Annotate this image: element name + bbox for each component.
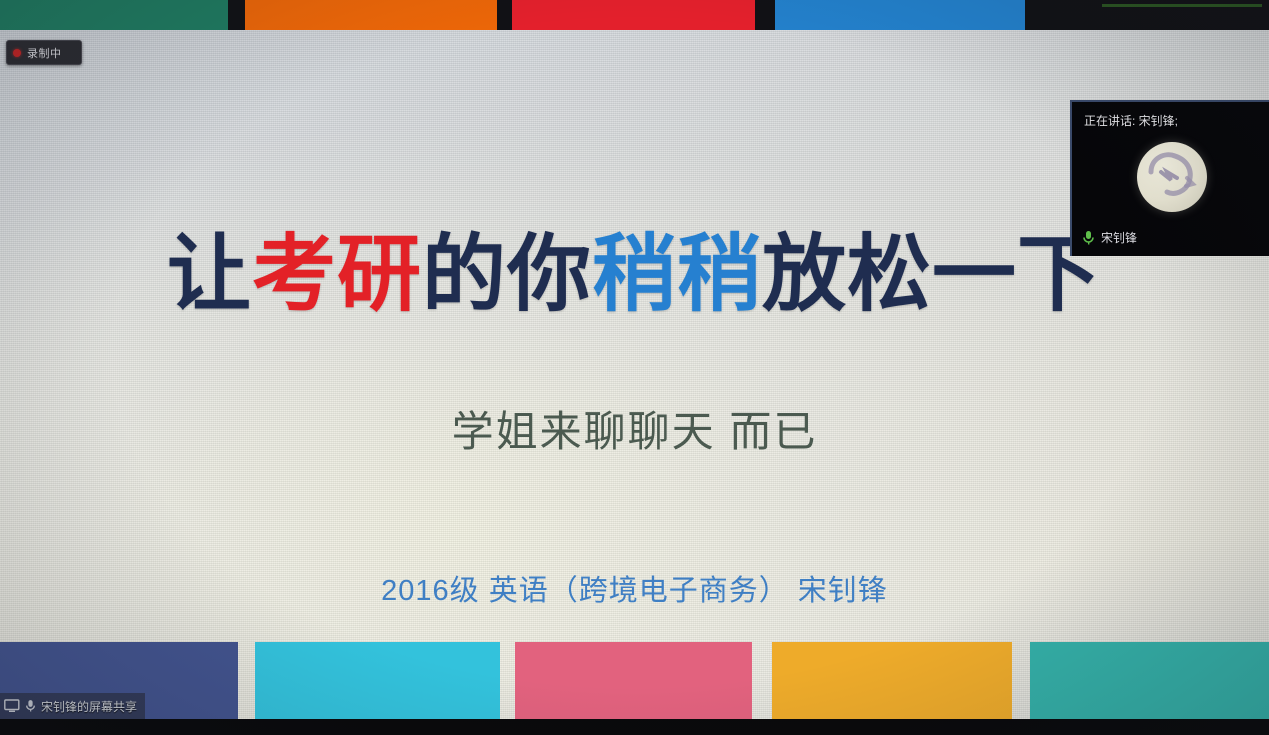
title-segment-1: 让 (167, 227, 252, 321)
green-hairline-decor (1102, 4, 1262, 7)
recording-label: 录制中 (27, 45, 62, 61)
video-participant-row: 宋钊锋 (1082, 229, 1137, 246)
decor-block-bottom-4 (772, 642, 1012, 719)
decor-block-bottom-5 (1030, 642, 1269, 719)
decor-block-top-4 (775, 0, 1025, 30)
title-segment-5: 放松一下 (762, 227, 1102, 321)
decor-block-bottom-2 (255, 642, 500, 719)
meeting-screen-capture: 让考研的你稍稍放松一下 学姐来聊聊天 而已 2016级 英语（跨境电子商务） 宋… (0, 0, 1269, 735)
recording-dot-icon (13, 49, 21, 57)
video-thumbnail-panel[interactable]: 正在讲话: 宋钊锋; 宋钊锋 (1070, 100, 1269, 256)
avatar (1137, 142, 1207, 212)
letterbox-bottom (0, 719, 1269, 735)
microphone-icon (1082, 230, 1095, 246)
recording-badge[interactable]: 录制中 (6, 40, 82, 65)
slide-subtitle: 学姐来聊聊天 而已 (0, 398, 1269, 459)
title-segment-4: 稍稍 (592, 227, 762, 321)
active-speaker-label: 正在讲话: 宋钊锋; (1084, 112, 1178, 129)
title-segment-3: 的你 (422, 227, 592, 321)
screen-share-status: 宋钊锋的屏幕共享 (0, 693, 145, 719)
avatar-graphic (1137, 142, 1207, 212)
decor-block-bottom-3 (515, 642, 752, 719)
video-participant-name: 宋钊锋 (1101, 229, 1137, 246)
title-segment-2: 考研 (252, 227, 422, 321)
decor-block-top-2 (245, 0, 497, 30)
microphone-icon (25, 699, 36, 713)
slide-byline: 2016级 英语（跨境电子商务） 宋钊锋 (0, 567, 1269, 609)
decor-block-top-3 (512, 0, 755, 30)
screen-share-icon (4, 699, 20, 713)
screen-share-label: 宋钊锋的屏幕共享 (41, 698, 137, 715)
decor-block-top-1 (0, 0, 228, 30)
